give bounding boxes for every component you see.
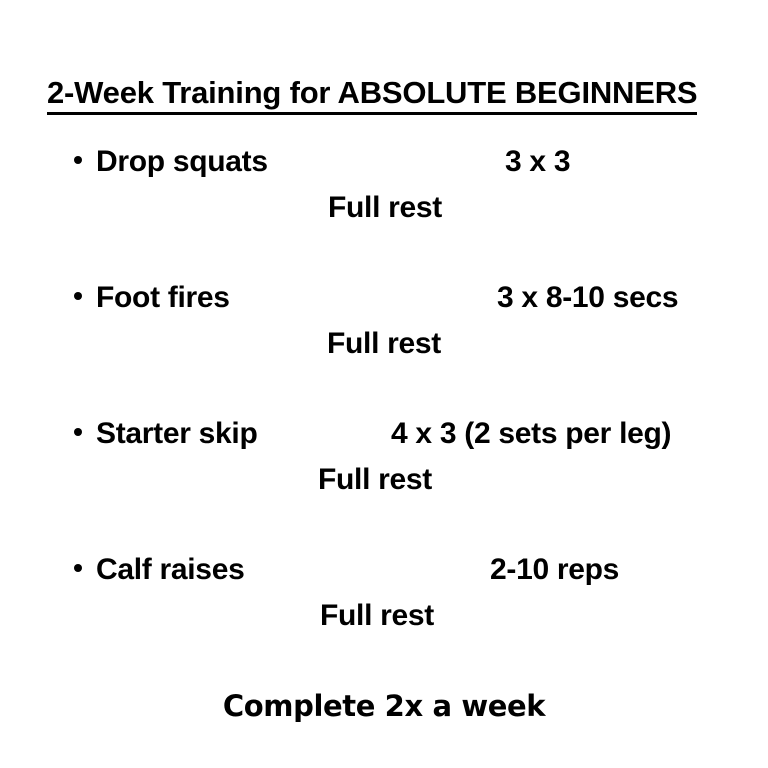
list-item: Drop squats 3 x 3 Full rest [0, 140, 768, 276]
list-item-main-row: Starter skip 4 x 3 (2 sets per leg) [0, 412, 768, 456]
list-item: Starter skip 4 x 3 (2 sets per leg) Full… [0, 412, 768, 548]
exercise-name: Starter skip [96, 412, 257, 456]
list-item-main-row: Foot fires 3 x 8-10 secs [0, 276, 768, 320]
exercise-prescription: 3 x 8-10 secs [497, 276, 678, 320]
exercise-name: Foot fires [96, 276, 230, 320]
bullet-icon [74, 292, 82, 300]
list-item-main-row: Calf raises 2-10 reps [0, 548, 768, 592]
exercise-rest-note: Full rest [318, 458, 432, 502]
exercise-prescription: 4 x 3 (2 sets per leg) [391, 412, 671, 456]
frequency-note: Complete 2x a week [223, 686, 545, 726]
workout-plan-page: 2-Week Training for ABSOLUTE BEGINNERS D… [0, 0, 768, 768]
list-item: Calf raises 2-10 reps Full rest [0, 548, 768, 684]
exercise-rest-note: Full rest [328, 186, 442, 230]
exercise-rest-note: Full rest [327, 322, 441, 366]
exercise-rest-note: Full rest [320, 594, 434, 638]
list-item: Foot fires 3 x 8-10 secs Full rest [0, 276, 768, 412]
exercise-prescription: 2-10 reps [490, 548, 619, 592]
exercise-name: Drop squats [96, 140, 268, 184]
bullet-icon [74, 156, 82, 164]
exercise-list: Drop squats 3 x 3 Full rest Foot fires 3… [0, 140, 768, 684]
page-title-container: 2-Week Training for ABSOLUTE BEGINNERS [47, 76, 727, 115]
exercise-prescription: 3 x 3 [505, 140, 570, 184]
footer: Complete 2x a week [0, 686, 768, 726]
bullet-icon [74, 564, 82, 572]
exercise-name: Calf raises [96, 548, 244, 592]
bullet-icon [74, 428, 82, 436]
page-title: 2-Week Training for ABSOLUTE BEGINNERS [47, 76, 697, 115]
list-item-main-row: Drop squats 3 x 3 [0, 140, 768, 184]
